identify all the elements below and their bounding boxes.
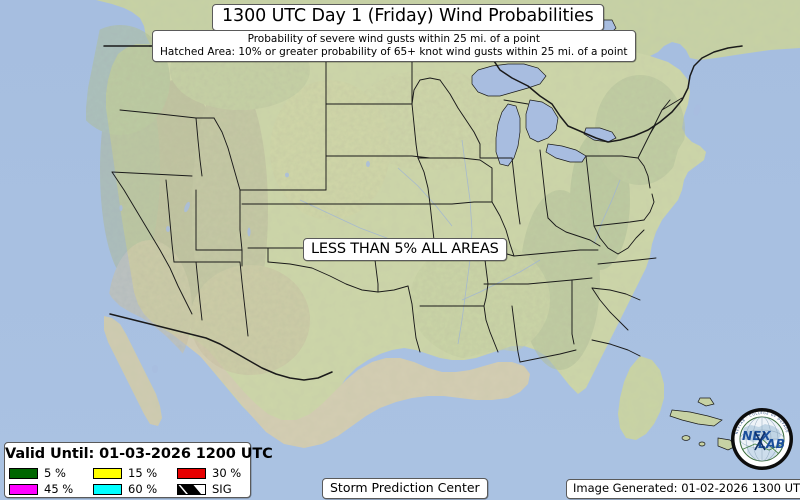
subtitle-description: Probability of severe wind gusts within … — [152, 30, 636, 62]
legend-item-60: 60 % — [93, 481, 177, 497]
legend-swatch-sig-hatched — [177, 484, 206, 495]
legend-label-45: 45 % — [44, 483, 73, 496]
legend-swatch-60 — [93, 484, 122, 495]
legend-label-60: 60 % — [128, 483, 157, 496]
legend-swatch-30 — [177, 468, 206, 479]
legend-item-30: 30 % — [177, 465, 255, 481]
legend-swatch-45 — [9, 484, 38, 495]
legend-swatch-5 — [9, 468, 38, 479]
valid-until-label: Valid Until: 01-03-2026 1200 UTC — [5, 445, 250, 464]
legend-swatch-grid: 5 % 15 % 30 % 45 % 60 % SIG — [5, 465, 250, 497]
legend-label-5: 5 % — [44, 467, 66, 480]
nexlab-logo[interactable]: NEXLAB · COLLEGE OF DUPAGE NEX LAB — [729, 406, 795, 472]
image-generated-timestamp: Image Generated: 01-02-2026 1300 UTC — [566, 479, 800, 499]
legend-label-15: 15 % — [128, 467, 157, 480]
map-overlay-label: LESS THAN 5% ALL AREAS — [303, 238, 507, 261]
legend-swatch-15 — [93, 468, 122, 479]
wind-probability-map-page: 1300 UTC Day 1 (Friday) Wind Probabiliti… — [0, 0, 800, 500]
subtitle-line-1: Probability of severe wind gusts within … — [160, 33, 628, 46]
probability-legend: Valid Until: 01-03-2026 1200 UTC 5 % 15 … — [4, 442, 251, 498]
legend-item-sig: SIG — [177, 481, 255, 497]
legend-item-5: 5 % — [9, 465, 93, 481]
legend-item-45: 45 % — [9, 481, 93, 497]
legend-label-sig: SIG — [212, 483, 232, 496]
agency-credit: Storm Prediction Center — [322, 478, 488, 499]
subtitle-line-2: Hatched Area: 10% or greater probability… — [160, 46, 628, 59]
page-title: 1300 UTC Day 1 (Friday) Wind Probabiliti… — [212, 4, 604, 31]
legend-label-30: 30 % — [212, 467, 241, 480]
legend-item-15: 15 % — [93, 465, 177, 481]
